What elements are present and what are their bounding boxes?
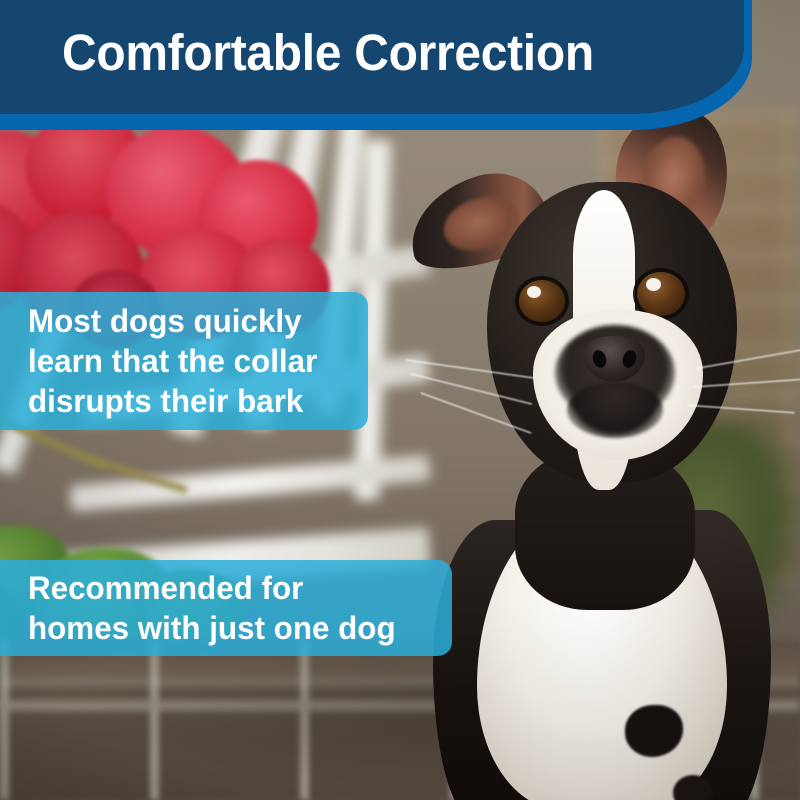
page-title: Comfortable Correction — [62, 27, 594, 78]
marketing-graphic: Comfortable Correction Most dogs quickly… — [0, 0, 800, 800]
callout-box-2: Recommended for homes with just one dog — [0, 560, 452, 656]
callout-1-line-3: disrupts their bark — [28, 381, 344, 421]
boston-terrier-dog — [415, 120, 775, 800]
callout-2-line-2: homes with just one dog — [28, 608, 426, 648]
callout-box-1: Most dogs quickly learn that the collar … — [0, 292, 368, 430]
callout-1-line-2: learn that the collar — [28, 341, 344, 381]
callout-1-line-1: Most dogs quickly — [28, 301, 344, 341]
callout-2-line-1: Recommended for — [28, 568, 426, 608]
